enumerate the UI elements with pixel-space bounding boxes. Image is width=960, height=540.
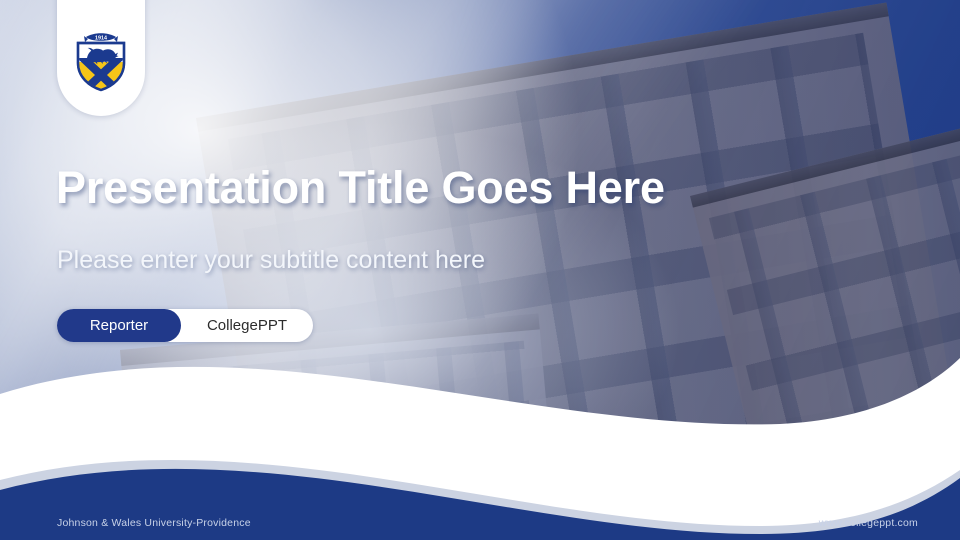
page-title: Presentation Title Goes Here [56,162,665,214]
crest-saltire [77,58,125,92]
university-crest-icon: 1914 [72,30,130,92]
reporter-label: Reporter [57,309,181,342]
footer-institution: Johnson & Wales University-Providence [57,517,251,529]
crest-year-banner: 1914 [84,33,118,42]
presentation-title-slide: 1914 Presentation Title Goes Her [0,0,960,540]
logo-tab: 1914 [57,0,145,116]
reporter-pill[interactable]: Reporter CollegePPT [57,309,313,342]
reporter-value[interactable]: CollegePPT [181,309,313,342]
page-subtitle: Please enter your subtitle content here [57,246,485,275]
footer-website[interactable]: www.collegeppt.com [819,517,918,529]
svg-text:1914: 1914 [95,36,107,42]
